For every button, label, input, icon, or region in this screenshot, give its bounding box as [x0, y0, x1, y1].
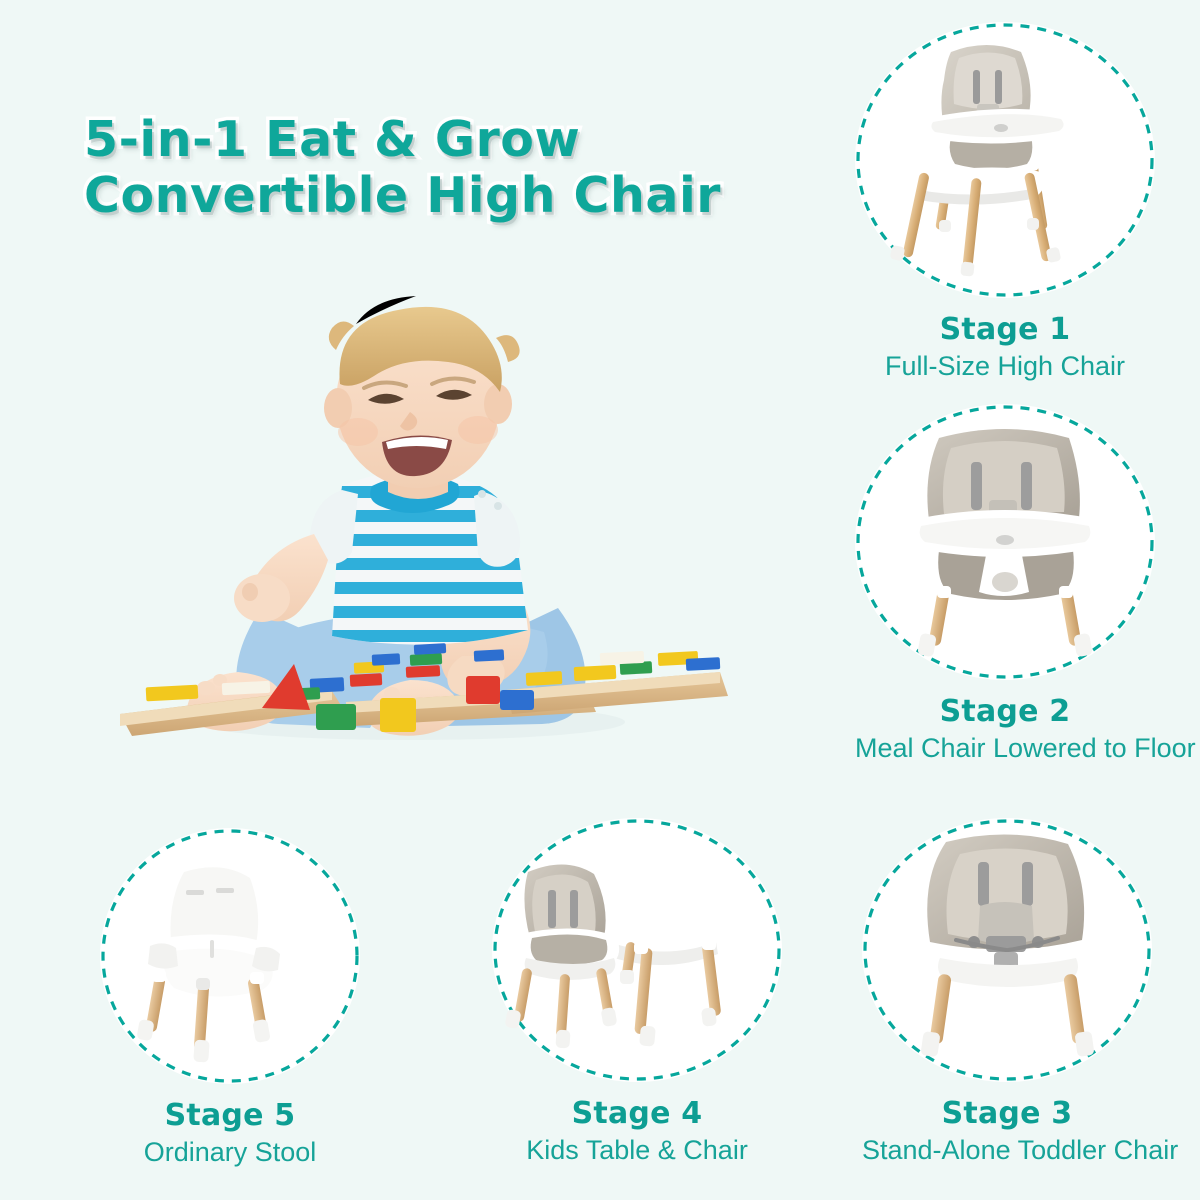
stage-4-cell: Stage 4 Kids Table & Chair	[492, 818, 782, 1168]
stage-4-caption: Stage 4 Kids Table & Chair	[492, 1096, 782, 1168]
stage-2-cell: Stage 2 Meal Chair Lowered to Floor	[855, 404, 1155, 766]
stage-5-subtitle: Ordinary Stool	[100, 1134, 360, 1170]
stage-3-cell: Stage 3 Stand-Alone Toddler Chair	[862, 818, 1152, 1168]
stage-1-cell: Stage 1 Full-Size High Chair	[855, 22, 1155, 384]
title-line-2: Convertible High Chair	[84, 168, 784, 224]
stage-3-subtitle: Stand-Alone Toddler Chair	[862, 1132, 1152, 1168]
stage-3-image-circle	[862, 818, 1152, 1082]
stage-4-title: Stage 4	[492, 1096, 782, 1132]
infographic-canvas: 5-in-1 Eat & Grow Convertible High Chair	[0, 0, 1200, 1200]
stage-3-product-image	[862, 818, 1152, 1082]
page-title: 5-in-1 Eat & Grow Convertible High Chair	[84, 112, 784, 224]
stage-5-caption: Stage 5 Ordinary Stool	[100, 1098, 360, 1170]
stage-1-title: Stage 1	[855, 312, 1155, 348]
stage-4-subtitle: Kids Table & Chair	[492, 1132, 782, 1168]
stage-1-subtitle: Full-Size High Chair	[855, 348, 1155, 384]
stage-2-product-image	[855, 404, 1155, 680]
stage-5-image-circle	[100, 828, 360, 1084]
stage-3-caption: Stage 3 Stand-Alone Toddler Chair	[862, 1096, 1152, 1168]
stage-4-image-circle	[492, 818, 782, 1082]
stage-1-image-circle	[855, 22, 1155, 298]
hero-photo-toddler	[110, 290, 730, 780]
stage-1-caption: Stage 1 Full-Size High Chair	[855, 312, 1155, 384]
stage-2-image-circle	[855, 404, 1155, 680]
title-line-1: 5-in-1 Eat & Grow	[84, 112, 784, 168]
stage-1-product-image	[855, 22, 1155, 298]
stage-5-cell: Stage 5 Ordinary Stool	[100, 828, 360, 1170]
stage-2-caption: Stage 2 Meal Chair Lowered to Floor	[855, 694, 1155, 766]
stage-2-title: Stage 2	[855, 694, 1155, 730]
stage-5-title: Stage 5	[100, 1098, 360, 1134]
stage-4-product-image	[492, 818, 782, 1082]
stage-5-product-image	[100, 828, 360, 1084]
stage-2-subtitle: Meal Chair Lowered to Floor	[855, 730, 1155, 766]
stage-3-title: Stage 3	[862, 1096, 1152, 1132]
